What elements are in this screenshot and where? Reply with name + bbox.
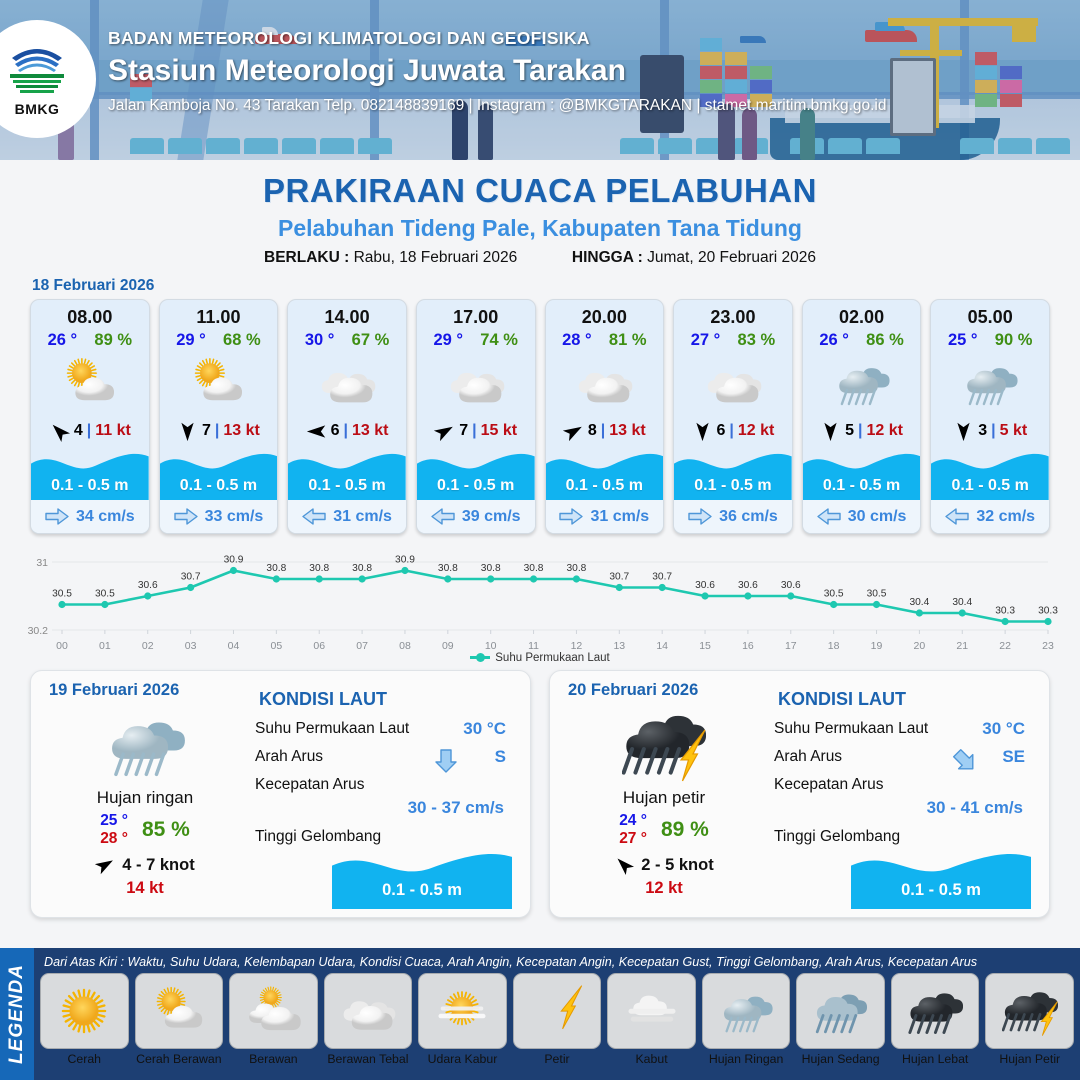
legend-item: Cerah Berawan xyxy=(135,973,224,1066)
svg-text:30.7: 30.7 xyxy=(609,572,629,583)
panel-date: 19 Februari 2026 xyxy=(49,681,245,700)
current-direction-arrow-icon xyxy=(953,748,979,774)
panel-temp-min: 24 ° xyxy=(619,812,647,830)
sea-row-label: Suhu Permukaan Laut xyxy=(255,720,409,738)
panel-temp-hum-row: 24 ° 27 ° 89 % xyxy=(564,812,764,848)
card-wave: 0.1 - 0.5 m xyxy=(674,448,792,500)
svg-text:16: 16 xyxy=(742,640,754,652)
card-wind-gust: 12 kt xyxy=(867,422,903,440)
card-temperature: 29 ° xyxy=(433,331,463,350)
sea-row: Tinggi Gelombang xyxy=(774,828,1035,846)
svg-text:30.6: 30.6 xyxy=(695,580,715,591)
legend-item: Hujan Lebat xyxy=(891,973,980,1066)
card-wave: 0.1 - 0.5 m xyxy=(931,448,1049,500)
svg-text:30.7: 30.7 xyxy=(652,572,672,583)
current-direction-arrow-icon xyxy=(434,748,460,774)
sea-conditions-header: KONDISI LAUT xyxy=(259,689,516,710)
current-direction-arrow-icon xyxy=(45,508,69,525)
card-current-speed: 34 cm/s xyxy=(76,508,135,526)
weather-cerah-berawan-icon xyxy=(31,352,149,414)
forecast-card: 17.00 29 ° 74 % 7 | 15 kt xyxy=(416,299,536,534)
forecast-card: 14.00 30 ° 67 % 6 | 13 kt xyxy=(287,299,407,534)
card-humidity: 83 % xyxy=(738,331,776,350)
card-wind-row: 7 | 15 kt xyxy=(417,414,535,448)
sea-row-label: Kecepatan Arus xyxy=(774,776,883,794)
card-wind-row: 6 | 13 kt xyxy=(288,414,406,448)
svg-text:30.8: 30.8 xyxy=(352,563,372,574)
card-temp-hum-row: 29 ° 68 % xyxy=(160,328,278,350)
card-temp-hum-row: 27 ° 83 % xyxy=(674,328,792,350)
card-wind-speed: 5 xyxy=(845,422,854,440)
card-time: 17.00 xyxy=(417,300,535,328)
svg-text:30.9: 30.9 xyxy=(395,555,415,566)
legend-item: Hujan Ringan xyxy=(702,973,791,1066)
weather-hujan-petir-icon xyxy=(985,973,1074,1049)
wind-direction-arrow-icon xyxy=(177,421,198,442)
wind-direction-arrow-icon xyxy=(306,421,327,442)
card-humidity: 68 % xyxy=(223,331,261,350)
svg-text:06: 06 xyxy=(313,640,325,652)
panel-temp-max: 28 ° xyxy=(100,830,128,848)
card-current-speed: 32 cm/s xyxy=(976,508,1035,526)
card-temperature: 27 ° xyxy=(691,331,721,350)
sea-row-label: Arah Arus xyxy=(255,748,323,766)
wind-direction-arrow-icon xyxy=(49,421,70,442)
card-current-row: 39 cm/s xyxy=(417,500,535,533)
card-temp-hum-row: 29 ° 74 % xyxy=(417,328,535,350)
card-humidity: 89 % xyxy=(94,331,132,350)
card-temp-hum-row: 28 ° 81 % xyxy=(546,328,664,350)
card-wind-speed: 4 xyxy=(74,422,83,440)
sea-row: Suhu Permukaan Laut 30 °C xyxy=(255,720,516,738)
svg-text:10: 10 xyxy=(485,640,497,652)
svg-text:30.6: 30.6 xyxy=(138,580,158,591)
daily-forecast-panel: 20 Februari 2026 Hujan petir 24 ° 27 ° xyxy=(549,670,1050,918)
legend-item: Berawan Tebal xyxy=(324,973,413,1066)
svg-text:22: 22 xyxy=(999,640,1011,652)
svg-text:30.4: 30.4 xyxy=(952,597,972,608)
forecast-card: 08.00 26 ° 89 % 4 | 11 kt xyxy=(30,299,150,534)
svg-text:30.8: 30.8 xyxy=(481,563,501,574)
weather-cerah-berawan-icon xyxy=(135,973,224,1049)
panel-wind-speed: 4 - 7 knot xyxy=(122,856,194,875)
card-current-speed: 33 cm/s xyxy=(205,508,264,526)
panel-sea-conditions: KONDISI LAUT Suhu Permukaan Laut 30 °C A… xyxy=(764,681,1035,905)
agency-name: BADAN METEOROLOGI KLIMATOLOGI DAN GEOFIS… xyxy=(108,28,887,49)
sea-row-value: S xyxy=(495,747,506,767)
chart-legend-marker xyxy=(470,656,490,659)
card-temperature: 26 ° xyxy=(819,331,849,350)
svg-text:05: 05 xyxy=(271,640,283,652)
card-wind-gust: 13 kt xyxy=(352,422,388,440)
legend-note: Dari Atas Kiri : Waktu, Suhu Udara, Kele… xyxy=(40,952,1074,973)
card-temp-hum-row: 26 ° 89 % xyxy=(31,328,149,350)
card-time: 23.00 xyxy=(674,300,792,328)
weather-berawan-sun-icon xyxy=(229,973,318,1049)
card-temp-hum-row: 26 ° 86 % xyxy=(803,328,921,350)
legend-body: Dari Atas Kiri : Waktu, Suhu Udara, Kele… xyxy=(34,948,1080,1080)
svg-text:07: 07 xyxy=(356,640,368,652)
card-wave-height: 0.1 - 0.5 m xyxy=(417,477,535,495)
card-temp-hum-row: 30 ° 67 % xyxy=(288,328,406,350)
card-humidity: 74 % xyxy=(480,331,518,350)
daily-forecast-panels: 19 Februari 2026 Hujan ringan 25 ° 28 ° xyxy=(0,664,1080,918)
card-wave-height: 0.1 - 0.5 m xyxy=(288,477,406,495)
sea-row-value: 30 - 37 cm/s xyxy=(255,798,516,818)
card-current-speed: 31 cm/s xyxy=(590,508,649,526)
panel-wave: 0.1 - 0.5 m xyxy=(332,847,512,909)
weather-hujan-ringan-icon xyxy=(931,352,1049,414)
valid-until-value: Jumat, 20 Februari 2026 xyxy=(647,249,816,266)
current-direction-arrow-icon xyxy=(302,508,326,525)
sea-row-label: Tinggi Gelombang xyxy=(255,828,381,846)
legend-item: Udara Kabur xyxy=(418,973,507,1066)
card-wave: 0.1 - 0.5 m xyxy=(31,448,149,500)
panel-wave: 0.1 - 0.5 m xyxy=(851,847,1031,909)
legend-item: Petir xyxy=(513,973,602,1066)
panel-left: 20 Februari 2026 Hujan petir 24 ° 27 ° xyxy=(564,681,764,905)
svg-text:14: 14 xyxy=(656,640,668,652)
legend-item-label: Berawan xyxy=(229,1052,318,1066)
sea-row: Arah Arus SE xyxy=(774,748,1035,766)
svg-text:21: 21 xyxy=(956,640,968,652)
legend-item-label: Berawan Tebal xyxy=(324,1052,413,1066)
svg-text:31: 31 xyxy=(36,557,48,569)
panel-wind-gust: 14 kt xyxy=(45,879,245,898)
forecast-card: 11.00 29 ° 68 % 7 | 13 kt xyxy=(159,299,279,534)
weather-udara-kabur-icon xyxy=(418,973,507,1049)
svg-text:18: 18 xyxy=(828,640,840,652)
weather-kabut-icon xyxy=(607,973,696,1049)
weather-berawan-icon xyxy=(417,352,535,414)
forecast-card: 23.00 27 ° 83 % 6 | 12 kt xyxy=(673,299,793,534)
panel-condition: Hujan ringan xyxy=(45,788,245,808)
card-wind-speed: 8 xyxy=(588,422,597,440)
weather-cerah-berawan-icon xyxy=(160,352,278,414)
page-subtitle: Pelabuhan Tideng Pale, Kabupaten Tana Ti… xyxy=(0,215,1080,242)
panel-date: 20 Februari 2026 xyxy=(568,681,764,700)
card-wave-height: 0.1 - 0.5 m xyxy=(31,477,149,495)
forecast-card-list: 08.00 26 ° 89 % 4 | 11 kt xyxy=(0,299,1080,534)
wind-direction-arrow-icon xyxy=(692,421,713,442)
card-wave-height: 0.1 - 0.5 m xyxy=(803,477,921,495)
card-wave: 0.1 - 0.5 m xyxy=(546,448,664,500)
current-direction-arrow-icon xyxy=(431,508,455,525)
card-time: 11.00 xyxy=(160,300,278,328)
legend-item-label: Cerah xyxy=(40,1052,129,1066)
svg-text:09: 09 xyxy=(442,640,454,652)
svg-text:19: 19 xyxy=(871,640,883,652)
card-wave-height: 0.1 - 0.5 m xyxy=(674,477,792,495)
card-wave-height: 0.1 - 0.5 m xyxy=(546,477,664,495)
card-wind-speed: 3 xyxy=(978,422,987,440)
weather-cerah-icon xyxy=(40,973,129,1049)
card-wind-speed: 6 xyxy=(717,422,726,440)
separator: | xyxy=(991,422,995,440)
sea-row-value: 30 °C xyxy=(463,719,506,739)
panel-condition: Hujan petir xyxy=(564,788,764,808)
card-wind-row: 3 | 5 kt xyxy=(931,414,1049,448)
legend-item: Kabut xyxy=(607,973,696,1066)
svg-text:12: 12 xyxy=(571,640,583,652)
svg-text:13: 13 xyxy=(613,640,625,652)
svg-text:11: 11 xyxy=(528,640,539,652)
svg-text:30.3: 30.3 xyxy=(1038,606,1058,617)
card-temperature: 30 ° xyxy=(305,331,335,350)
weather-hujan-ringan-icon xyxy=(45,702,245,786)
svg-text:23: 23 xyxy=(1042,640,1054,652)
svg-text:30.8: 30.8 xyxy=(266,563,286,574)
current-direction-arrow-icon xyxy=(817,508,841,525)
panel-wind-row: 4 - 7 knot xyxy=(45,855,245,875)
svg-text:30.8: 30.8 xyxy=(524,563,544,574)
wind-direction-arrow-icon xyxy=(563,421,584,442)
legend-item-label: Kabut xyxy=(607,1052,696,1066)
card-wave: 0.1 - 0.5 m xyxy=(803,448,921,500)
separator: | xyxy=(472,422,476,440)
weather-berawan-icon xyxy=(324,973,413,1049)
weather-hujan-lebat-icon xyxy=(891,973,980,1049)
current-direction-arrow-icon xyxy=(688,508,712,525)
separator: | xyxy=(858,422,862,440)
svg-text:30.8: 30.8 xyxy=(567,563,587,574)
sea-conditions-header: KONDISI LAUT xyxy=(778,689,1035,710)
wind-direction-arrow-icon xyxy=(953,421,974,442)
sea-row-value: SE xyxy=(1002,747,1025,767)
header-banner: BMKG BADAN METEOROLOGI KLIMATOLOGI DAN G… xyxy=(0,0,1080,160)
weather-hujan-ringan-icon xyxy=(702,973,791,1049)
weather-berawan-icon xyxy=(674,352,792,414)
card-humidity: 67 % xyxy=(352,331,390,350)
forecast-card: 20.00 28 ° 81 % 8 | 13 kt xyxy=(545,299,665,534)
svg-text:08: 08 xyxy=(399,640,411,652)
svg-text:30.4: 30.4 xyxy=(909,597,929,608)
card-current-row: 32 cm/s xyxy=(931,500,1049,533)
current-direction-arrow-icon xyxy=(559,508,583,525)
panel-temps: 25 ° 28 ° xyxy=(100,812,128,848)
card-current-speed: 39 cm/s xyxy=(462,508,521,526)
wind-direction-arrow-icon xyxy=(614,855,634,875)
legend-item: Berawan xyxy=(229,973,318,1066)
sea-row-label: Arah Arus xyxy=(774,748,842,766)
card-wind-row: 8 | 13 kt xyxy=(546,414,664,448)
sea-row-label: Suhu Permukaan Laut xyxy=(774,720,928,738)
svg-text:30.7: 30.7 xyxy=(181,572,201,583)
legend-item: Cerah xyxy=(40,973,129,1066)
card-wind-gust: 12 kt xyxy=(738,422,774,440)
wind-direction-arrow-icon xyxy=(820,421,841,442)
card-temperature: 25 ° xyxy=(948,331,978,350)
card-temperature: 29 ° xyxy=(176,331,206,350)
svg-text:30.6: 30.6 xyxy=(781,580,801,591)
svg-text:15: 15 xyxy=(699,640,711,652)
card-current-row: 34 cm/s xyxy=(31,500,149,533)
forecast-card: 02.00 26 ° 86 % 5 | 12 kt xyxy=(802,299,922,534)
panel-wave-height: 0.1 - 0.5 m xyxy=(332,881,512,900)
card-wind-gust: 15 kt xyxy=(481,422,517,440)
card-wind-gust: 13 kt xyxy=(223,422,259,440)
card-wave: 0.1 - 0.5 m xyxy=(160,448,278,500)
wind-direction-arrow-icon xyxy=(95,855,115,875)
bmkg-logo-text: BMKG xyxy=(15,101,60,117)
card-wind-gust: 11 kt xyxy=(95,422,131,440)
legend-item-label: Cerah Berawan xyxy=(135,1052,224,1066)
svg-text:30.5: 30.5 xyxy=(52,589,72,600)
svg-text:30.9: 30.9 xyxy=(224,555,244,566)
card-temperature: 28 ° xyxy=(562,331,592,350)
sea-row: Kecepatan Arus xyxy=(774,776,1035,794)
contact-info: Jalan Kamboja No. 43 Tarakan Telp. 08214… xyxy=(108,97,887,115)
sst-chart: 3130.20001020304050607080910111213141516… xyxy=(18,546,1062,658)
sea-row-label: Tinggi Gelombang xyxy=(774,828,900,846)
legend-item-label: Hujan Ringan xyxy=(702,1052,791,1066)
card-time: 08.00 xyxy=(31,300,149,328)
svg-text:30.5: 30.5 xyxy=(867,589,887,600)
legend-item-list: Cerah Cerah Berawan xyxy=(40,973,1074,1066)
bmkg-logo-mark xyxy=(6,42,68,100)
card-temp-hum-row: 25 ° 90 % xyxy=(931,328,1049,350)
banner-text-block: BADAN METEOROLOGI KLIMATOLOGI DAN GEOFIS… xyxy=(108,28,887,115)
panel-humidity: 85 % xyxy=(142,818,190,842)
card-humidity: 86 % xyxy=(866,331,904,350)
separator: | xyxy=(729,422,733,440)
current-direction-arrow-icon xyxy=(945,508,969,525)
sea-row-value: 30 - 41 cm/s xyxy=(774,798,1035,818)
card-current-row: 36 cm/s xyxy=(674,500,792,533)
svg-text:30.6: 30.6 xyxy=(738,580,758,591)
card-wind-row: 5 | 12 kt xyxy=(803,414,921,448)
legend-item: Hujan Sedang xyxy=(796,973,885,1066)
card-humidity: 90 % xyxy=(995,331,1033,350)
panel-temp-min: 25 ° xyxy=(100,812,128,830)
card-current-row: 33 cm/s xyxy=(160,500,278,533)
card-current-row: 30 cm/s xyxy=(803,500,921,533)
legend-footer: LEGENDA Dari Atas Kiri : Waktu, Suhu Uda… xyxy=(0,948,1080,1080)
station-name: Stasiun Meteorologi Juwata Tarakan xyxy=(108,54,887,88)
panel-wind-speed: 2 - 5 knot xyxy=(641,856,713,875)
weather-hujan-ringan-icon xyxy=(803,352,921,414)
validity-line: BERLAKU : Rabu, 18 Februari 2026 HINGGA … xyxy=(0,249,1080,267)
card-wave-height: 0.1 - 0.5 m xyxy=(160,477,278,495)
card-current-row: 31 cm/s xyxy=(546,500,664,533)
legend-item-label: Hujan Lebat xyxy=(891,1052,980,1066)
weather-hujan-sedang-icon xyxy=(796,973,885,1049)
legend-side-title: LEGENDA xyxy=(0,948,34,1080)
sea-row: Arah Arus S xyxy=(255,748,516,766)
panel-sea-conditions: KONDISI LAUT Suhu Permukaan Laut 30 °C A… xyxy=(245,681,516,905)
card-time: 02.00 xyxy=(803,300,921,328)
card-wind-speed: 7 xyxy=(202,422,211,440)
panel-temp-max: 27 ° xyxy=(619,830,647,848)
svg-text:00: 00 xyxy=(56,640,68,652)
panel-wave-height: 0.1 - 0.5 m xyxy=(851,881,1031,900)
valid-until-label: HINGGA : xyxy=(572,249,643,266)
forecast-card: 05.00 25 ° 90 % 3 | 5 kt xyxy=(930,299,1050,534)
card-current-speed: 31 cm/s xyxy=(333,508,392,526)
card-wave-height: 0.1 - 0.5 m xyxy=(931,477,1049,495)
card-wind-row: 6 | 12 kt xyxy=(674,414,792,448)
panel-wind-gust: 12 kt xyxy=(564,879,764,898)
legend-item-label: Petir xyxy=(513,1052,602,1066)
card-current-speed: 36 cm/s xyxy=(719,508,778,526)
legend-item-label: Hujan Sedang xyxy=(796,1052,885,1066)
panel-temp-hum-row: 25 ° 28 ° 85 % xyxy=(45,812,245,848)
sea-row-label: Kecepatan Arus xyxy=(255,776,364,794)
sea-row: Suhu Permukaan Laut 30 °C xyxy=(774,720,1035,738)
card-time: 05.00 xyxy=(931,300,1049,328)
panel-wind-row: 2 - 5 knot xyxy=(564,855,764,875)
sea-row-value: 30 °C xyxy=(982,719,1025,739)
weather-hujan-petir-icon xyxy=(564,702,764,786)
separator: | xyxy=(87,422,91,440)
weather-berawan-icon xyxy=(546,352,664,414)
card-wind-speed: 7 xyxy=(459,422,468,440)
title-block: PRAKIRAAN CUACA PELABUHAN Pelabuhan Tide… xyxy=(0,160,1080,267)
card-wave: 0.1 - 0.5 m xyxy=(417,448,535,500)
wind-direction-arrow-icon xyxy=(434,421,455,442)
card-time: 14.00 xyxy=(288,300,406,328)
current-direction-arrow-icon xyxy=(174,508,198,525)
card-wind-row: 4 | 11 kt xyxy=(31,414,149,448)
weather-berawan-icon xyxy=(288,352,406,414)
weather-petir-icon xyxy=(513,973,602,1049)
svg-text:17: 17 xyxy=(785,640,797,652)
svg-text:01: 01 xyxy=(99,640,111,652)
card-wind-gust: 5 kt xyxy=(1000,422,1028,440)
card-wind-row: 7 | 13 kt xyxy=(160,414,278,448)
svg-text:20: 20 xyxy=(914,640,926,652)
card-wind-gust: 13 kt xyxy=(609,422,645,440)
svg-text:02: 02 xyxy=(142,640,154,652)
svg-text:30.3: 30.3 xyxy=(995,606,1015,617)
svg-text:30.5: 30.5 xyxy=(95,589,115,600)
separator: | xyxy=(215,422,219,440)
card-humidity: 81 % xyxy=(609,331,647,350)
card-temperature: 26 ° xyxy=(48,331,78,350)
sea-row: Kecepatan Arus xyxy=(255,776,516,794)
forecast-date-label: 18 Februari 2026 xyxy=(32,277,1080,295)
separator: | xyxy=(344,422,348,440)
panel-humidity: 89 % xyxy=(661,818,709,842)
card-wind-speed: 6 xyxy=(331,422,340,440)
card-current-speed: 30 cm/s xyxy=(848,508,907,526)
valid-from-label: BERLAKU : xyxy=(264,249,349,266)
svg-text:30.8: 30.8 xyxy=(438,563,458,574)
card-time: 20.00 xyxy=(546,300,664,328)
svg-text:30.8: 30.8 xyxy=(309,563,329,574)
legend-side-text: LEGENDA xyxy=(6,964,28,1064)
panel-temps: 24 ° 27 ° xyxy=(619,812,647,848)
valid-from-value: Rabu, 18 Februari 2026 xyxy=(354,249,518,266)
card-wave: 0.1 - 0.5 m xyxy=(288,448,406,500)
sea-row: Tinggi Gelombang xyxy=(255,828,516,846)
page-title: PRAKIRAAN CUACA PELABUHAN xyxy=(0,172,1080,210)
daily-forecast-panel: 19 Februari 2026 Hujan ringan 25 ° 28 ° xyxy=(30,670,531,918)
svg-text:30.5: 30.5 xyxy=(824,589,844,600)
separator: | xyxy=(601,422,605,440)
panel-left: 19 Februari 2026 Hujan ringan 25 ° 28 ° xyxy=(45,681,245,905)
legend-item-label: Udara Kabur xyxy=(418,1052,507,1066)
svg-text:30.2: 30.2 xyxy=(28,625,49,637)
svg-text:03: 03 xyxy=(185,640,197,652)
card-current-row: 31 cm/s xyxy=(288,500,406,533)
svg-text:04: 04 xyxy=(228,640,240,652)
legend-item-label: Hujan Petir xyxy=(985,1052,1074,1066)
legend-item: Hujan Petir xyxy=(985,973,1074,1066)
